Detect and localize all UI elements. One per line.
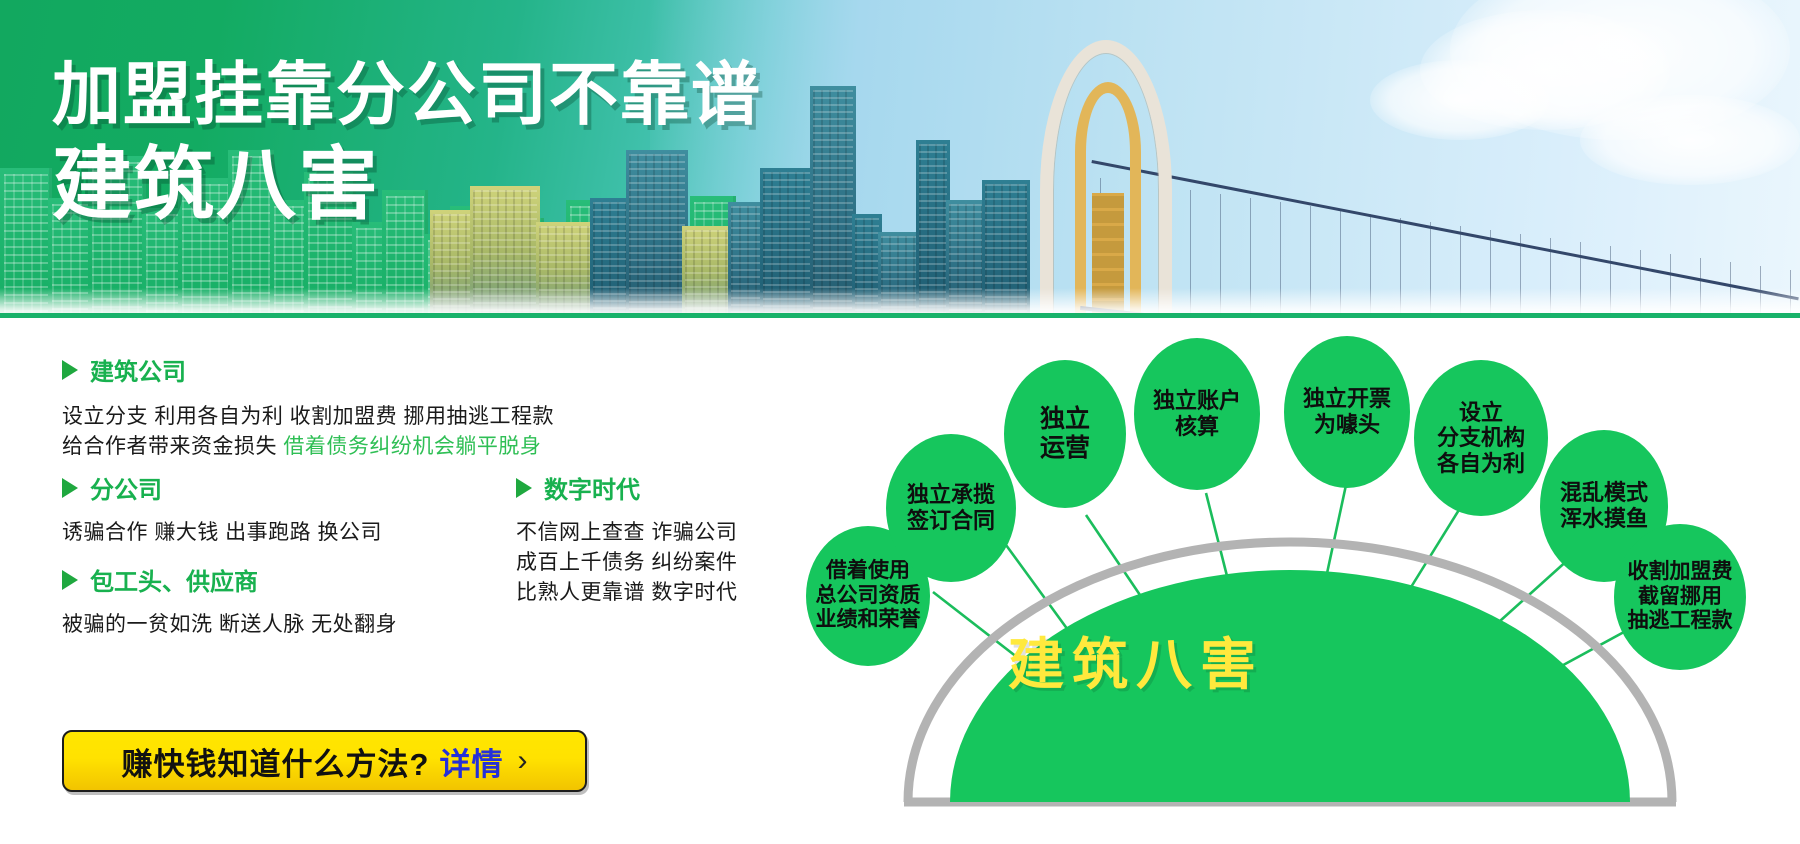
bubble-item[interactable]: 独立账户 核算 — [1134, 338, 1260, 490]
section-body-line: 诱骗合作 赚大钱 出事跑路 换公司 — [62, 516, 382, 546]
section-heading-label: 分公司 — [90, 470, 162, 505]
body-text: 比熟人更靠谱 数字时代 — [516, 581, 737, 604]
section-body-line: 被骗的一贫如洗 断送人脉 无处翻身 — [62, 608, 397, 638]
hero-title-line-2: 建筑八害 — [52, 143, 762, 228]
diagram-panel: 借着使用 总公司资质 业绩和荣誉 独立承揽 签订合同 独立 运营 独立账户 核算… — [790, 330, 1800, 844]
section-body-line: 设立分支 利用各自为利 收割加盟费 挪用抽逃工程款 — [62, 400, 554, 430]
bubble-item[interactable]: 独立 运营 — [1004, 360, 1126, 508]
section-heading-contractor-supplier: 包工头、供应商 — [62, 562, 258, 597]
body-text-highlight: 借着债务纠纷机会躺平脱身 — [283, 435, 541, 458]
hero-bottom-rule — [0, 313, 1800, 318]
bubble-item[interactable]: 独立开票 为噱头 — [1284, 336, 1410, 488]
bubble-line: 总公司资质 — [816, 584, 921, 608]
bubble-line: 浑水摸鱼 — [1560, 506, 1648, 532]
bubble-line: 收割加盟费 — [1628, 560, 1733, 584]
bubble-line: 为噱头 — [1314, 412, 1380, 438]
triangle-bullet-icon — [62, 478, 78, 498]
hero-title-line-1: 加盟挂靠分公司不靠谱 — [52, 58, 762, 131]
hero-title: 加盟挂靠分公司不靠谱 建筑八害 — [52, 58, 762, 228]
bubble-line: 运营 — [1040, 434, 1090, 463]
bubble-line: 混乱模式 — [1560, 480, 1648, 506]
bubble-line: 独立承揽 — [907, 482, 995, 508]
dome-center-label: 建筑八害 — [1008, 620, 1264, 701]
body-text: 被骗的一贫如洗 断送人脉 无处翻身 — [62, 613, 397, 636]
bubble-line: 独立开票 — [1303, 386, 1391, 412]
body-text: 诱骗合作 赚大钱 出事跑路 换公司 — [62, 521, 382, 544]
bubble-line: 借着使用 — [826, 559, 910, 583]
cta-button[interactable]: 赚快钱知道什么方法? 详情 › — [62, 730, 587, 792]
bubble-line: 截留挪用 — [1638, 585, 1722, 609]
section-body-line: 成百上千债务 纠纷案件 — [516, 546, 737, 576]
bubble-item[interactable]: 独立承揽 签订合同 — [886, 434, 1016, 582]
section-heading-label: 数字时代 — [544, 470, 640, 505]
body-text: 设立分支 利用各自为利 收割加盟费 挪用抽逃工程款 — [62, 405, 554, 428]
poster-root: 加盟挂靠分公司不靠谱 建筑八害 建筑公司 设立分支 利用各自为利 收割加盟费 挪… — [0, 0, 1800, 844]
bubble-line: 设立 — [1459, 400, 1503, 426]
body-text: 给合作者带来资金损失 — [62, 435, 283, 458]
triangle-bullet-icon — [62, 570, 78, 590]
bubble-line: 抽逃工程款 — [1628, 609, 1733, 633]
chevron-right-icon: › — [517, 744, 527, 778]
cta-link-label[interactable]: 详情 — [439, 739, 503, 784]
section-body-line: 不信网上查查 诈骗公司 — [516, 516, 737, 546]
bubble-line: 核算 — [1175, 414, 1219, 440]
bubble-item[interactable]: 收割加盟费 截留挪用 抽逃工程款 — [1614, 524, 1746, 670]
bubble-line: 独立 — [1040, 405, 1090, 434]
bubble-line: 分支机构 — [1437, 425, 1525, 451]
section-heading-digital-era: 数字时代 — [516, 470, 640, 505]
body-text: 成百上千债务 纠纷案件 — [516, 551, 737, 574]
bubble-line: 业绩和荣誉 — [816, 608, 921, 632]
section-heading-construction-company: 建筑公司 — [62, 352, 186, 387]
bubble-line: 各自为利 — [1437, 451, 1525, 477]
bridge-illustration — [1020, 40, 1800, 318]
section-body-line: 比熟人更靠谱 数字时代 — [516, 576, 737, 606]
cta-label: 赚快钱知道什么方法? — [122, 739, 430, 784]
section-heading-label: 包工头、供应商 — [90, 562, 258, 597]
body-text: 不信网上查查 诈骗公司 — [516, 521, 737, 544]
bubble-line: 独立账户 — [1153, 388, 1241, 414]
bubble-item[interactable]: 设立 分支机构 各自为利 — [1414, 360, 1548, 516]
triangle-bullet-icon — [62, 360, 78, 380]
hero-banner: 加盟挂靠分公司不靠谱 建筑八害 — [0, 0, 1800, 318]
bubble-line: 签订合同 — [907, 508, 995, 534]
triangle-bullet-icon — [516, 478, 532, 498]
section-heading-label: 建筑公司 — [90, 352, 186, 387]
section-body-line: 给合作者带来资金损失 借着债务纠纷机会躺平脱身 — [62, 430, 541, 460]
bridge-pylon-arch — [1075, 82, 1141, 318]
section-heading-branch-company: 分公司 — [62, 470, 162, 505]
